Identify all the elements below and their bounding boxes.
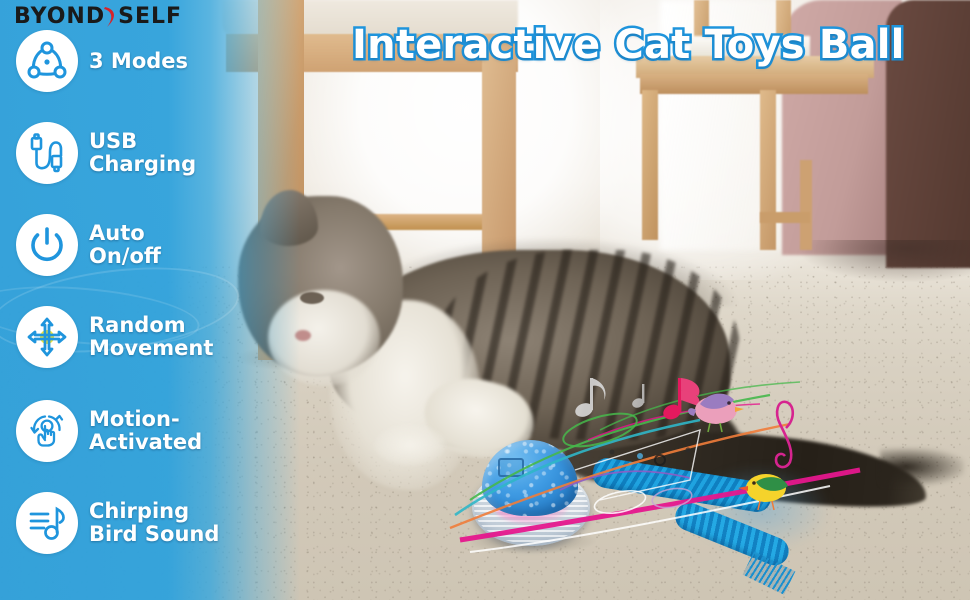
three-modes-icon xyxy=(16,30,78,92)
cat-hind-paw xyxy=(374,424,446,466)
ball-sensor-window xyxy=(498,458,524,477)
usb-cable-icon xyxy=(16,122,78,184)
feature-label: Motion- Activated xyxy=(89,408,202,454)
power-button-icon xyxy=(16,214,78,276)
sofa-shadow xyxy=(800,240,970,282)
stool-leg-right xyxy=(760,90,776,250)
feature-label: Chirping Bird Sound xyxy=(89,500,219,546)
feature-item-3-modes[interactable]: 3 Modes xyxy=(16,30,188,92)
music-note-lines-icon xyxy=(16,492,78,554)
cat-eye xyxy=(300,292,324,304)
stool-rung-vertical xyxy=(800,160,812,250)
feature-label: Auto On/off xyxy=(89,222,161,268)
cat-tail-tip xyxy=(880,448,964,486)
feature-item-motion-activated[interactable]: Motion- Activated xyxy=(16,400,202,462)
four-way-arrows-icon xyxy=(16,306,78,368)
feature-item-random-movement[interactable]: Random Movement xyxy=(16,306,213,368)
stool-leg-left xyxy=(642,90,658,240)
stool-apron xyxy=(640,74,868,94)
feature-item-chirping-bird-sound[interactable]: Chirping Bird Sound xyxy=(16,492,219,554)
cat-toy-ball xyxy=(468,440,598,550)
page-title: Interactive Cat Toys Ball xyxy=(352,22,905,68)
stool-rung xyxy=(760,212,810,223)
feature-item-usb-charging[interactable]: USB Charging xyxy=(16,122,196,184)
feature-list: 3 Modes USB Charging xyxy=(0,0,300,600)
product-advertisement-banner: BYOND SELF Interactive Cat Toys Ball 3 M… xyxy=(0,0,970,600)
hand-touch-rotate-icon xyxy=(16,400,78,462)
feature-label: USB Charging xyxy=(89,130,196,176)
feature-item-auto-on-off[interactable]: Auto On/off xyxy=(16,214,161,276)
ball-dome-texture xyxy=(482,440,578,516)
feature-label: Random Movement xyxy=(89,314,213,360)
feature-label: 3 Modes xyxy=(89,50,188,73)
